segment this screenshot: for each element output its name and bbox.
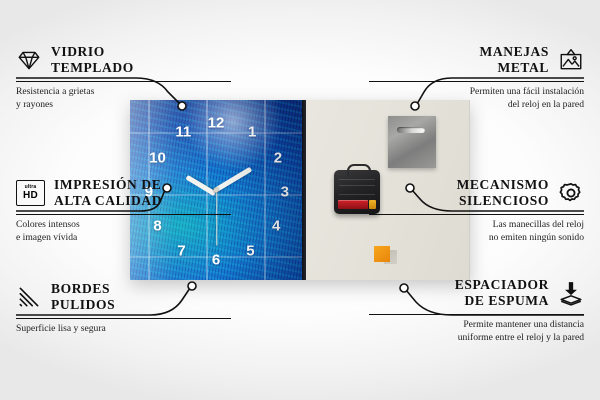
diagonal-lines-icon (16, 284, 42, 310)
diamond-icon (16, 47, 42, 73)
callout-header: ESPACIADOR DE ESPUMA (369, 277, 584, 309)
callout-bordes-pulidos[interactable]: BORDES PULIDOS Superficie lisa y segura (16, 281, 231, 336)
hanger-slot (397, 127, 425, 133)
callout-subtitle: Permite mantener una distancia uniforme … (369, 319, 584, 344)
clock-numeral-5: 5 (246, 244, 254, 259)
callout-header: MECANISMO SILENCIOSO (369, 177, 584, 209)
callout-rule (16, 81, 231, 83)
callout-rule (16, 214, 231, 216)
clock-numeral-2: 2 (274, 150, 282, 165)
ultra-hd-icon: ultra HD (16, 180, 45, 206)
callout-title: BORDES PULIDOS (51, 281, 115, 313)
picture-frame-icon (558, 47, 584, 73)
clock-numeral-1: 1 (248, 125, 256, 140)
callout-header: ultra HD IMPRESIÓN DE ALTA CALIDAD (16, 177, 231, 209)
callout-title: MECANISMO SILENCIOSO (457, 177, 549, 209)
callout-manejas-metal[interactable]: MANEJAS METAL Permiten una fácil instala… (369, 44, 584, 112)
callout-rule (369, 214, 584, 216)
callout-vidrio-templado[interactable]: VIDRIO TEMPLADO Resistencia a grietas y … (16, 44, 231, 112)
callout-impresion-alta-calidad[interactable]: ultra HD IMPRESIÓN DE ALTA CALIDAD Color… (16, 177, 231, 245)
callout-rule (369, 314, 584, 316)
callout-subtitle: Superficie lisa y segura (16, 323, 231, 336)
callout-header: VIDRIO TEMPLADO (16, 44, 231, 76)
ultra-hd-large-text: HD (23, 191, 38, 201)
clock-numeral-6: 6 (212, 253, 220, 268)
callout-title: VIDRIO TEMPLADO (51, 44, 134, 76)
callout-subtitle: Colores intensos e imagen vívida (16, 219, 231, 244)
battery (338, 200, 368, 209)
callout-title: IMPRESIÓN DE ALTA CALIDAD (54, 177, 162, 209)
foam-spacer-icon (558, 280, 584, 306)
mechanism-hook (347, 164, 371, 176)
callout-espaciador-espuma[interactable]: ESPACIADOR DE ESPUMA Permite mantener un… (369, 277, 584, 345)
callout-rule (369, 81, 584, 83)
foam-spacer (374, 246, 390, 262)
callout-title: ESPACIADOR DE ESPUMA (455, 277, 549, 309)
callout-subtitle: Resistencia a grietas y rayones (16, 86, 231, 111)
callout-header: MANEJAS METAL (369, 44, 584, 76)
clock-numeral-12: 12 (208, 116, 225, 131)
clock-numeral-11: 11 (175, 125, 191, 140)
callout-subtitle: Permiten una fácil instalación del reloj… (369, 86, 584, 111)
gear-icon (558, 180, 584, 206)
callout-subtitle: Las manecillas del reloj no emiten ningú… (369, 219, 584, 244)
callout-mecanismo-silencioso[interactable]: MECANISMO SILENCIOSO Las manecillas del … (369, 177, 584, 245)
clock-numeral-7: 7 (177, 244, 185, 259)
clock-numeral-4: 4 (272, 219, 280, 234)
clock-numeral-3: 3 (281, 184, 289, 199)
clock-numeral-10: 10 (149, 150, 166, 165)
infographic-canvas: 12 1 2 3 4 5 6 7 8 9 10 11 (0, 0, 600, 400)
metal-hanger (388, 116, 436, 168)
callout-title: MANEJAS METAL (480, 44, 549, 76)
callout-rule (16, 318, 231, 320)
callout-header: BORDES PULIDOS (16, 281, 231, 313)
